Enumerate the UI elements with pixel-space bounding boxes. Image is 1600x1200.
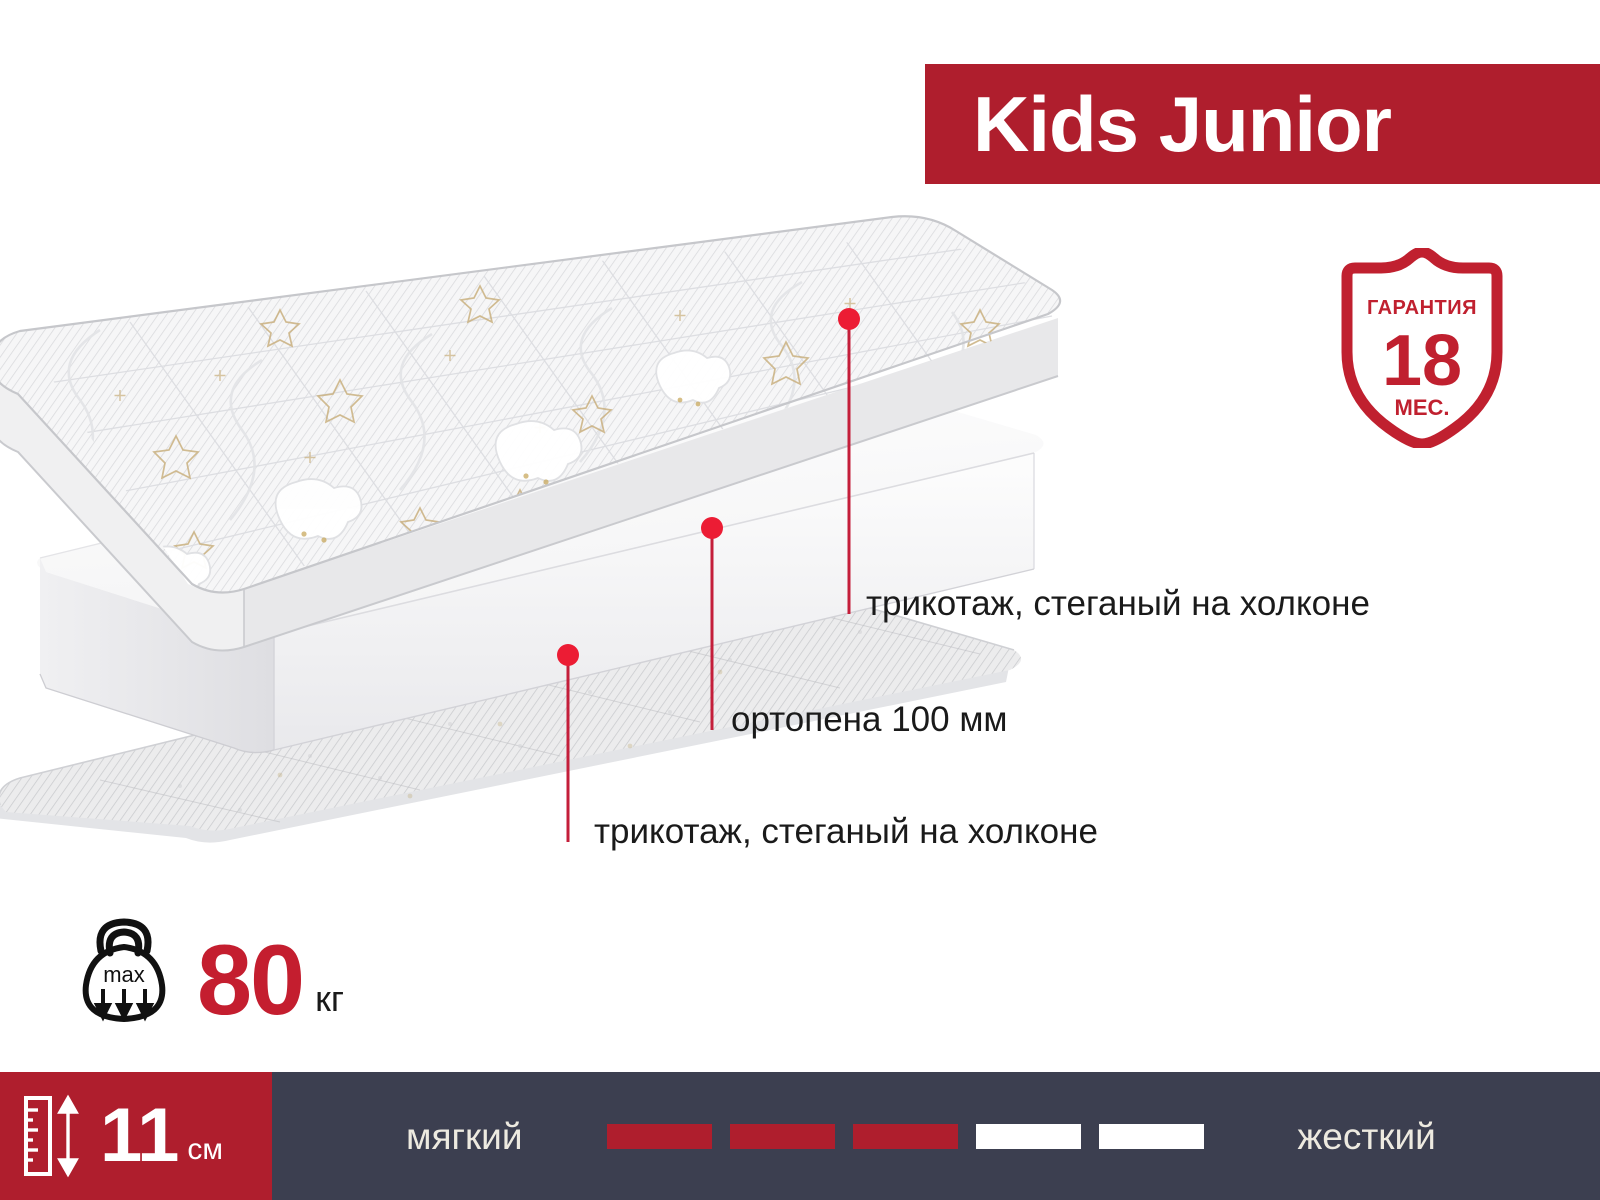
- layer-label-bottom-cover: трикотаж, стеганый на холконе: [594, 814, 1098, 849]
- firmness-scale: [607, 1124, 1204, 1149]
- firmness-segment-3: [853, 1124, 958, 1149]
- height-value: 11: [100, 1098, 178, 1174]
- firmness-hard-label: жесткий: [1298, 1118, 1436, 1155]
- firmness-soft-label: мягкий: [406, 1118, 523, 1155]
- height-unit: см: [187, 1135, 223, 1165]
- warranty-top-text: ГАРАНТИЯ: [1367, 297, 1477, 319]
- page-title: Kids Junior: [973, 85, 1391, 163]
- infographic-canvas: трикотаж, стеганый на холконе ортопена 1…: [0, 0, 1600, 1200]
- layer-label-foam-core: ортопена 100 мм: [731, 702, 1007, 737]
- max-load-block: max 80 кг: [75, 905, 344, 1025]
- firmness-segment-4: [976, 1124, 1081, 1149]
- firmness-segment-5: [1099, 1124, 1204, 1149]
- firmness-segment-2: [730, 1124, 835, 1149]
- height-block: 11 см: [0, 1072, 272, 1200]
- warranty-number: 18: [1382, 321, 1462, 401]
- bottom-spec-bar: 11 см мягкий жесткий: [0, 1072, 1600, 1200]
- max-load-value: 80: [197, 934, 303, 1025]
- firmness-block: мягкий жесткий: [272, 1072, 1600, 1200]
- product-title-banner: Kids Junior: [925, 64, 1600, 184]
- warranty-unit: МЕС.: [1395, 395, 1450, 420]
- svg-text:max: max: [103, 962, 145, 987]
- layer-label-top-cover: трикотаж, стеганый на холконе: [866, 586, 1370, 621]
- kettlebell-icon: max: [75, 907, 173, 1025]
- warranty-badge: ГАРАНТИЯ 18 МЕС.: [1337, 248, 1507, 448]
- firmness-segment-1: [607, 1124, 712, 1149]
- mattress-illustration: [0, 190, 1120, 850]
- max-load-unit: кг: [315, 981, 344, 1017]
- ruler-icon: [22, 1094, 86, 1178]
